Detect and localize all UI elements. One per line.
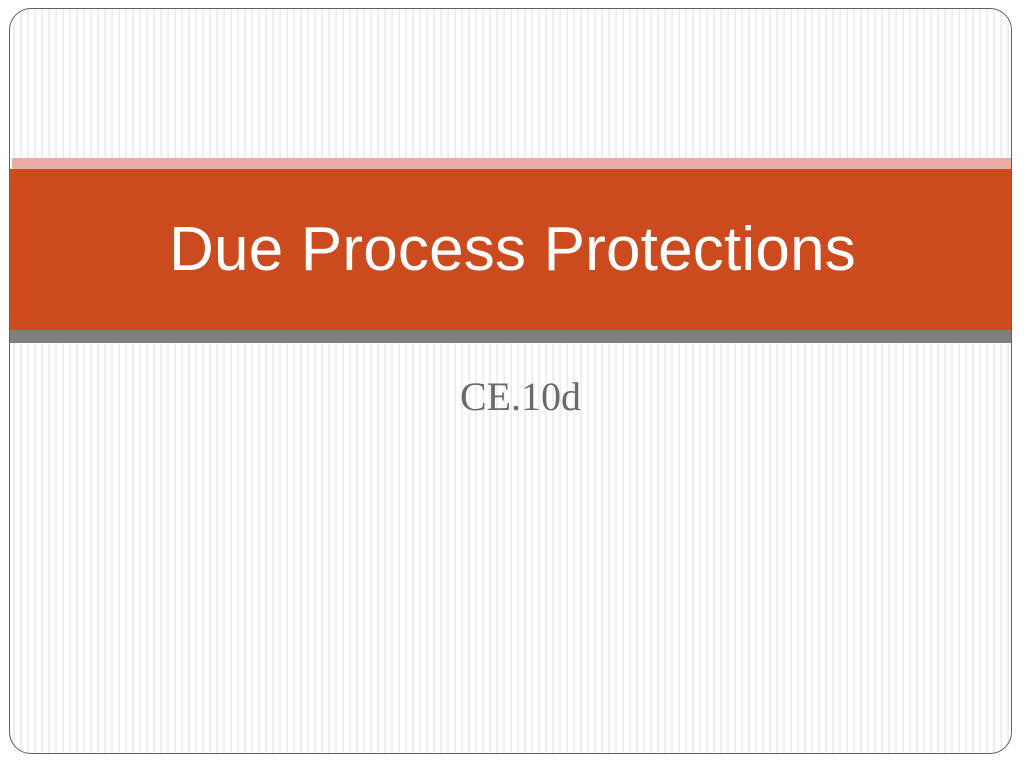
slide-subtitle: CE.10d (19, 375, 1012, 419)
presentation-slide-canvas: Due Process Protections CE.10d (0, 0, 1024, 768)
slide-frame: Due Process Protections CE.10d (9, 8, 1012, 754)
banner-accent-bar-bottom (10, 330, 1012, 343)
banner-accent-bar-top (12, 158, 1012, 169)
slide-title: Due Process Protections (10, 169, 1012, 330)
title-banner: Due Process Protections (10, 158, 1012, 344)
